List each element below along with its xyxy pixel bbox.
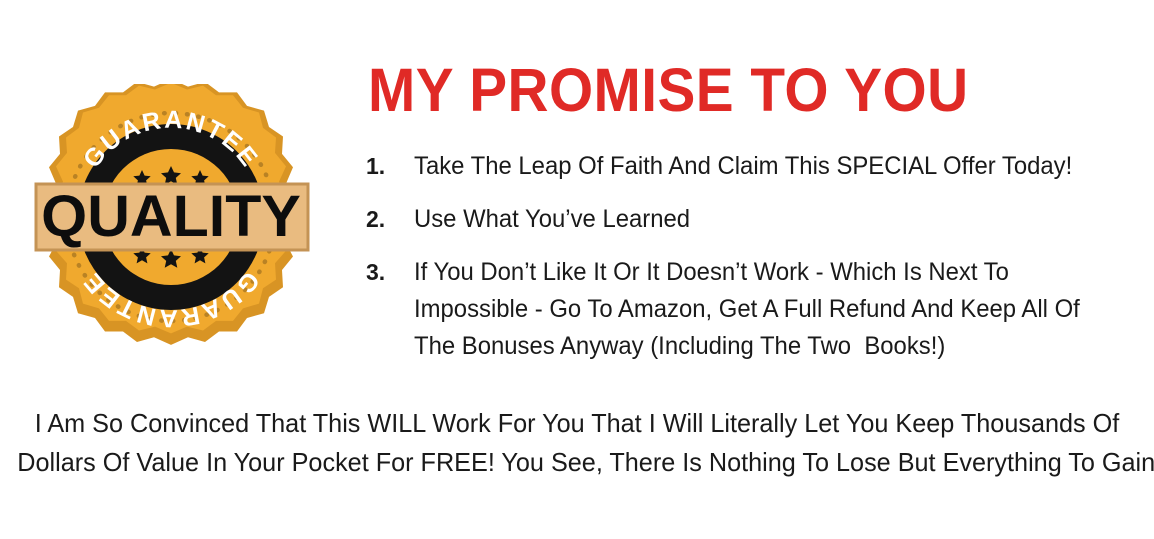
list-item-text: Take The Leap Of Faith And Claim This SP…: [414, 148, 1123, 185]
badge-banner-label: QUALITY: [41, 185, 301, 249]
page-title: MY PROMISE TO YOU: [368, 58, 969, 122]
list-item-number: 3.: [366, 254, 414, 291]
closing-paragraph: I Am So Convinced That This WILL Work Fo…: [0, 404, 1154, 482]
quality-guarantee-badge: GUARANTEE GUARANTEE QUALITY: [30, 84, 312, 350]
promise-list: 1. Take The Leap Of Faith And Claim This…: [366, 148, 1154, 381]
list-item-text: Use What You’ve Learned: [414, 201, 1123, 238]
badge-graphic: GUARANTEE GUARANTEE QUALITY: [30, 84, 312, 350]
list-item-number: 1.: [366, 148, 414, 185]
closing-line-2: Dollars Of Value In Your Pocket For FREE…: [17, 443, 1136, 482]
list-item: 3. If You Don’t Like It Or It Doesn’t Wo…: [366, 254, 1154, 365]
list-item-text: If You Don’t Like It Or It Doesn’t Work …: [414, 254, 1123, 365]
list-item: 2. Use What You’ve Learned: [366, 201, 1154, 238]
list-item-number: 2.: [366, 201, 414, 238]
closing-line-1: I Am So Convinced That This WILL Work Fo…: [17, 404, 1136, 443]
list-item: 1. Take The Leap Of Faith And Claim This…: [366, 148, 1154, 185]
promise-page: GUARANTEE GUARANTEE QUALITY MY: [0, 0, 1154, 539]
